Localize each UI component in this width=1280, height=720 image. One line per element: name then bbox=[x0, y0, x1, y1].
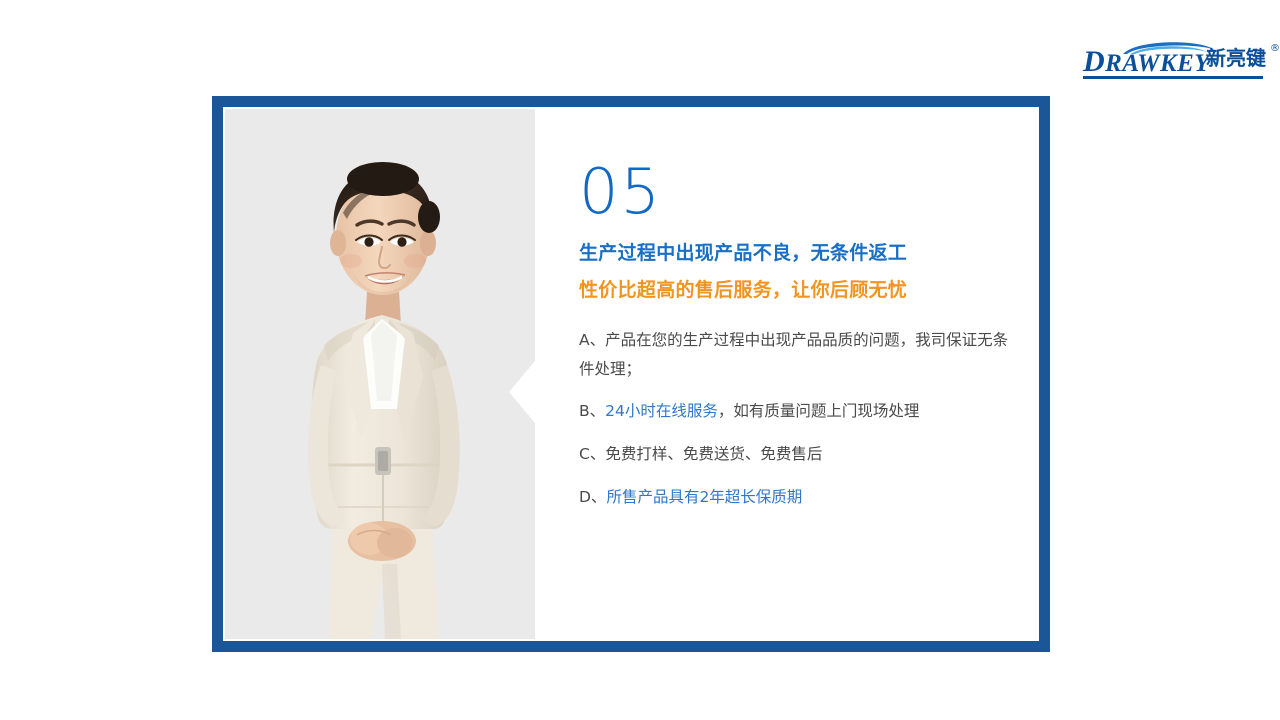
list-item-label: C、 bbox=[579, 445, 605, 463]
content-card-inner: 05 生产过程中出现产品不良，无条件返工 性价比超高的售后服务，让你后顾无忧 A… bbox=[223, 107, 1039, 641]
list-item-text: 所售产品具有2年超长保质期 bbox=[606, 488, 802, 506]
logo-chinese-name: 新亮键 bbox=[1206, 48, 1266, 68]
list-item-text: 免费打样、免费送货、免费售后 bbox=[605, 445, 822, 463]
list-item: A、产品在您的生产过程中出现产品品质的问题，我司保证无条件处理； bbox=[579, 326, 1009, 383]
list-item-label: B、 bbox=[579, 402, 605, 420]
logo-wordmark-cap: D bbox=[1083, 45, 1105, 78]
brand-logo: DRAWKEY 新亮键 ® bbox=[1083, 38, 1263, 82]
content-card-frame: 05 生产过程中出现产品不良，无条件返工 性价比超高的售后服务，让你后顾无忧 A… bbox=[212, 96, 1050, 652]
heading-secondary: 性价比超高的售后服务，让你后顾无忧 bbox=[579, 276, 1009, 305]
list-item-label: A、 bbox=[579, 331, 605, 349]
list-item: D、所售产品具有2年超长保质期 bbox=[579, 483, 1009, 512]
logo-wordmark: DRAWKEY bbox=[1083, 47, 1210, 77]
list-item-text: 产品在您的生产过程中出现产品品质的问题，我司保证无条件处理； bbox=[579, 331, 1008, 378]
list-item: B、24小时在线服务，如有质量问题上门现场处理 bbox=[579, 397, 1009, 426]
list-item-highlight: 24小时在线服务 bbox=[605, 402, 718, 420]
logo-underline bbox=[1083, 76, 1263, 79]
list-item: C、免费打样、免费送货、免费售后 bbox=[579, 440, 1009, 469]
list-item-label: D、 bbox=[579, 488, 606, 506]
list-item-tail: ，如有质量问题上门现场处理 bbox=[718, 402, 920, 420]
text-panel: 05 生产过程中出现产品不良，无条件返工 性价比超高的售后服务，让你后顾无忧 A… bbox=[535, 109, 1037, 639]
section-number: 05 bbox=[579, 161, 1009, 223]
registered-trademark-icon: ® bbox=[1270, 43, 1280, 54]
photo-panel bbox=[225, 109, 535, 639]
businesswoman-photo bbox=[225, 109, 535, 639]
heading-primary: 生产过程中出现产品不良，无条件返工 bbox=[579, 239, 1009, 268]
logo-wordmark-rest: RAWKEY bbox=[1105, 50, 1210, 77]
